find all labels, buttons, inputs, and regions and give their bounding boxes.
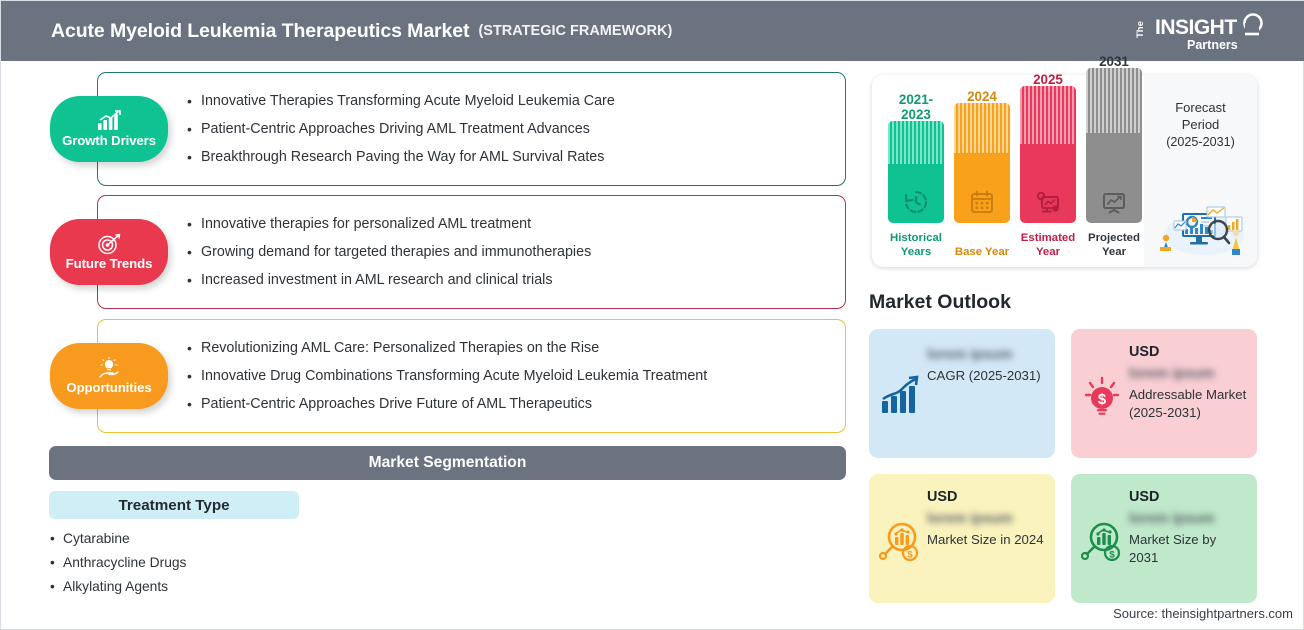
bar-base (954, 103, 1010, 223)
outlook-card-desc: Addressable Market (2025-2031) (1129, 386, 1247, 422)
future-trends-panel: Innovative therapies for personalized AM… (97, 195, 846, 309)
outlook-card-value: lorem ipsum (1129, 509, 1247, 529)
bullet-item: Patient-Centric Approaches Drive Future … (187, 390, 837, 418)
forecast-period-years: (2025-2031) (1144, 135, 1257, 149)
bar-projected (1086, 68, 1142, 223)
outlook-card-currency: USD (927, 488, 1045, 507)
opportunities-badge[interactable]: Opportunities (50, 343, 168, 409)
outlook-card-body: lorem ipsum CAGR (2025-2031) (927, 343, 1045, 448)
svg-text:The: The (1135, 21, 1146, 38)
market-segmentation-title: Market Segmentation (369, 454, 527, 472)
magnifier-chart-dollar-icon: $ (1081, 518, 1123, 564)
outlook-card-desc: CAGR (2025-2031) (927, 367, 1045, 385)
bullet-item: Growing demand for targeted therapies an… (187, 238, 837, 266)
bullet-item: Innovative therapies for personalized AM… (187, 210, 837, 238)
target-dart-icon (96, 233, 122, 255)
bar-year-label: 2021-2023 (888, 92, 944, 122)
infographic-page: Acute Myeloid Leukemia Therapeutics Mark… (0, 0, 1304, 630)
outlook-card-market-size-2031[interactable]: $ USD lorem ipsum Market Size by 2031 (1071, 474, 1257, 603)
badge-label: Growth Drivers (62, 133, 156, 148)
right-column: 2021-2023 Historical Years (863, 61, 1304, 630)
magnifier-chart-dollar-icon: $ (879, 518, 921, 564)
opportunities-panel: Revolutionizing AML Care: Personalized T… (97, 319, 846, 433)
insight-partners-logo: The INSIGHT Partners (1135, 10, 1267, 54)
segmentation-list: Cytarabine Anthracycline Drugs Alkylatin… (49, 527, 449, 599)
bullet-item: Revolutionizing AML Care: Personalized T… (187, 334, 837, 362)
bullet-item: Increased investment in AML research and… (187, 266, 837, 294)
forecast-bars-chart: 2021-2023 Historical Years (872, 75, 1144, 267)
future-trends-badge[interactable]: Future Trends (50, 219, 168, 285)
outlook-card-body: USD lorem ipsum Market Size in 2024 (927, 488, 1045, 593)
outlook-card-market-size-2024[interactable]: $ USD lorem ipsum Market Size in 2024 (869, 474, 1055, 603)
outlook-card-value: lorem ipsum (927, 345, 1045, 365)
bar-historical (888, 121, 944, 223)
bullet-item: Breakthrough Research Paving the Way for… (187, 143, 837, 171)
lightbulb-dollar-icon: $ (1081, 373, 1123, 419)
segmentation-chip-treatment-type[interactable]: Treatment Type (49, 491, 299, 519)
bar-year-label: 2025 (1020, 72, 1076, 87)
page-subtitle: (STRATEGIC FRAMEWORK) (478, 23, 672, 39)
forecast-timeline-card: 2021-2023 Historical Years (872, 75, 1257, 267)
list-item: Cytarabine (49, 527, 449, 551)
outlook-card-body: USD lorem ipsum Market Size by 2031 (1129, 488, 1247, 593)
svg-text:$: $ (1098, 391, 1107, 408)
lightbulb-hand-icon (96, 357, 122, 379)
bar-estimated (1020, 86, 1076, 223)
outlook-card-value: lorem ipsum (1129, 364, 1247, 384)
forecast-period-line2: Period (1144, 116, 1257, 133)
svg-text:$: $ (907, 549, 913, 560)
bar-year-label: 2031 (1086, 54, 1142, 69)
opportunities-bullets: Revolutionizing AML Care: Personalized T… (187, 334, 837, 418)
analytics-gear-icon (1035, 189, 1061, 215)
forecast-period-line1: Forecast (1144, 99, 1257, 116)
bar-category-label: Historical Years (882, 231, 950, 259)
market-outlook-title: Market Outlook (869, 291, 1011, 314)
list-item: Anthracycline Drugs (49, 551, 449, 575)
bullet-item: Patient-Centric Approaches Driving AML T… (187, 115, 837, 143)
svg-text:Partners: Partners (1187, 38, 1238, 52)
bar-stripe-top (1086, 68, 1142, 133)
outlook-card-addressable-market[interactable]: $ USD lorem ipsum Addressable Market (20… (1071, 329, 1257, 458)
outlook-card-body: USD lorem ipsum Addressable Market (2025… (1129, 343, 1247, 448)
clock-history-icon (903, 189, 929, 215)
page-header: Acute Myeloid Leukemia Therapeutics Mark… (1, 1, 1304, 61)
market-segmentation-header: Market Segmentation (49, 446, 846, 480)
bar-year-label: 2024 (954, 89, 1010, 104)
outlook-card-desc: Market Size in 2024 (927, 531, 1045, 549)
bar-category-label: Base Year (948, 245, 1016, 259)
badge-label: Future Trends (66, 256, 153, 271)
bar-category-label: Estimated Year (1014, 231, 1082, 259)
presentation-chart-icon (1101, 189, 1127, 215)
outlook-card-currency: USD (1129, 343, 1247, 362)
growth-drivers-panel: Innovative Therapies Transforming Acute … (97, 72, 846, 186)
page-title: Acute Myeloid Leukemia Therapeutics Mark… (51, 20, 469, 43)
bar-stripe-top (1020, 86, 1076, 144)
segmentation-chip-label: Treatment Type (118, 497, 229, 514)
data-analysis-illustration (1152, 195, 1250, 257)
left-column: Innovative Therapies Transforming Acute … (1, 61, 863, 630)
growth-drivers-badge[interactable]: Growth Drivers (50, 96, 168, 162)
bullet-item: Innovative Therapies Transforming Acute … (187, 87, 837, 115)
svg-text:$: $ (1109, 549, 1115, 560)
bar-category-label: Projected Year (1080, 231, 1148, 259)
growth-drivers-bullets: Innovative Therapies Transforming Acute … (187, 87, 837, 171)
outlook-card-value: lorem ipsum (927, 509, 1045, 529)
bar-stripe-top (888, 121, 944, 164)
calendar-icon (969, 189, 995, 215)
list-item: Alkylating Agents (49, 575, 449, 599)
outlook-card-currency: USD (1129, 488, 1247, 507)
future-trends-bullets: Innovative therapies for personalized AM… (187, 210, 837, 294)
bar-stripe-top (954, 103, 1010, 153)
outlook-card-desc: Market Size by 2031 (1129, 531, 1247, 567)
svg-text:INSIGHT: INSIGHT (1155, 16, 1237, 39)
source-attribution: Source: theinsightpartners.com (1113, 606, 1293, 621)
bullet-item: Innovative Drug Combinations Transformin… (187, 362, 837, 390)
outlook-card-cagr[interactable]: lorem ipsum CAGR (2025-2031) (869, 329, 1055, 458)
badge-label: Opportunities (66, 380, 151, 395)
bar-chart-growth-icon (96, 110, 122, 132)
bar-chart-arrow-icon (879, 373, 921, 419)
forecast-period-panel: Forecast Period (2025-2031) (1144, 75, 1257, 267)
